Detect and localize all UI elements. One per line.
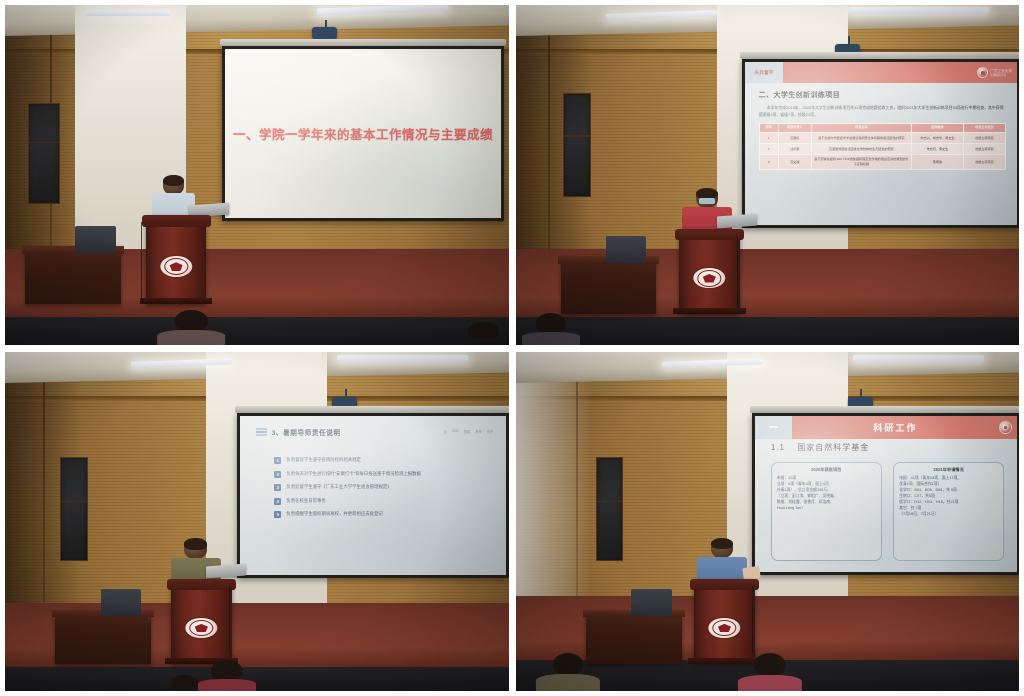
funding-box-2021: 2021年申请情况 申报：42项（青年23项、面上17项、 优青1项、国际合作1… <box>893 462 1004 560</box>
subtitle-text: 国家自然科学基金 <box>797 443 869 452</box>
screen-roller-bar <box>235 406 509 413</box>
slide-bullet-list: 1 负责督促学生遵守疫情防控的相关规定 2 负责每天对学生进行按时“安康打卡”和… <box>274 457 490 518</box>
emblem-ring <box>697 270 722 287</box>
chair <box>631 589 671 616</box>
slide-meta-item: 责任 <box>487 429 493 434</box>
emblem-ring <box>712 620 737 637</box>
audience-head <box>536 313 566 333</box>
audience-head <box>175 310 207 331</box>
bullet-number: 5 <box>274 511 281 518</box>
funding-box-2020: 2020年获批项目 申报：43项 立项：8项（青年3项、面上4项、 外青1项），… <box>771 462 882 560</box>
audience-body <box>157 330 225 344</box>
window-mullion <box>564 135 589 137</box>
table-header-row: 序号 项目负责人 项目名称 指导教师 项目立项级别 <box>759 124 1005 133</box>
box-line: （7月19日、7月21日） <box>899 512 998 518</box>
slide-subtitle: 1.1 国家自然科学基金 <box>771 442 869 453</box>
speaker-head <box>711 538 733 558</box>
window-mullion <box>597 501 622 503</box>
stage-front-panel <box>5 317 509 344</box>
audience-member <box>536 654 601 691</box>
audience-head <box>468 322 498 340</box>
table-cell: 3 <box>759 154 778 169</box>
dash-icon <box>769 426 778 428</box>
slide-heading: 二、大学生创新训练项目 <box>759 90 1006 100</box>
slide-header-bar: 科研工作 <box>755 416 1017 439</box>
screen-roller-bar <box>220 39 507 46</box>
slide-boxes: 2020年获批项目 申报：43项 立项：8项（青年3项、面上4项、 外青1项），… <box>771 462 1004 560</box>
slide-title: 3、暑期导师责任说明 <box>272 427 341 437</box>
emblem-ring <box>189 620 214 637</box>
audience-member <box>156 311 226 345</box>
audience-head <box>170 675 197 691</box>
university-seal-icon <box>977 67 988 78</box>
projection-screen-frame: 一、学院一学年来的基本工作情况与主要成绩 <box>222 46 505 222</box>
university-seal-icon <box>999 421 1012 434</box>
emblem-crest <box>170 262 183 271</box>
podium-emblem <box>694 268 725 288</box>
chair <box>606 236 646 263</box>
power-cable <box>229 586 250 657</box>
audience-member <box>521 314 581 345</box>
ceiling-light-right <box>848 7 989 14</box>
list-item: 3 负责监督学生遵守《广东工业大学学生组会管理规定》 <box>274 484 490 491</box>
table-cell: 2 <box>759 144 778 155</box>
projection-screen-frame: 科研工作 1.1 国家自然科学基金 2020年获批项目 申报：43项 立项：8项… <box>752 413 1019 575</box>
audience-member <box>161 674 206 691</box>
table-row: 2 过乐荣 高通量筛选新活因素化学抗体抗生剂活性的研究 朱志月、黄文生 省级立项… <box>759 144 1005 155</box>
table-row: 1 石国栋 基于全新时代能级学术发展道路视野生体问解体验活度性的研究 朱志兴、林… <box>759 133 1005 144</box>
table-cell: 过乐荣 <box>778 144 811 155</box>
slide-header-bar: 尖兵督学 广东工业大学 生物医药学院 <box>745 62 1017 83</box>
box-line: Hooi Leng Tan） <box>777 506 876 512</box>
audience-body <box>536 674 600 691</box>
table-cell: 黄明俊 <box>912 154 964 169</box>
screen-roller-bar <box>750 406 1019 413</box>
emblem-crest <box>718 624 731 633</box>
projection-screen-frame: 尖兵督学 广东工业大学 生物医药学院 二、大学生创新训练项目 本学年完成2019… <box>742 59 1019 228</box>
slide-body: 二、大学生创新训练项目 本学年完成2019年、2020年大学生创新训练项目共41… <box>759 90 1006 170</box>
bullet-text: 负责在校生日常事务 <box>286 498 326 505</box>
slide-title-only: 一、学院一学年来的基本工作情况与主要成绩 <box>225 49 502 219</box>
bullet-text: 负责监督学生遵守《广东工业大学学生组会管理规定》 <box>286 484 391 491</box>
logo-wordmark: 广东工业大学 <box>990 69 1012 73</box>
table-col-header: 项目负责人 <box>778 124 811 133</box>
projector-mount <box>312 27 337 39</box>
power-cable <box>752 586 773 657</box>
emblem-crest <box>195 624 208 633</box>
box-title: 2021年申请情况 <box>899 467 998 473</box>
photo-panel-bottom-right: 科研工作 1.1 国家自然科学基金 2020年获批项目 申报：43项 立项：8项… <box>516 352 1020 692</box>
podium-emblem <box>186 618 217 638</box>
audience-head <box>553 653 583 675</box>
audience-body <box>522 332 580 344</box>
bullet-number: 2 <box>274 471 281 478</box>
podium-emblem <box>160 256 191 277</box>
speaker-head <box>696 188 718 208</box>
slide-meta-item: 2022 <box>452 429 459 434</box>
slide-heading-row: 3、暑期导师责任说明 目 2022 整体 考核 责任 <box>256 427 494 437</box>
projection-screen: 3、暑期导师责任说明 目 2022 整体 考核 责任 1 负责督促学生遵守疫情防… <box>240 416 507 576</box>
logo-subtitle: 生物医药学院 <box>990 73 1012 77</box>
ceiling-light-right <box>337 355 468 362</box>
list-item: 4 负责在校生日常事务 <box>274 498 490 505</box>
side-table <box>25 246 121 304</box>
table-col-header: 项目立项级别 <box>963 124 1005 133</box>
power-cable <box>737 236 758 311</box>
slide-title: 一、学院一学年来的基本工作情况与主要成绩 <box>233 124 493 143</box>
bullet-text: 负责每天对学生进行按时“安康打卡”和每日报送重干情况检测上报数据 <box>286 471 421 478</box>
audience-head <box>211 660 242 681</box>
slide-paragraph: 本学年完成2019年、2020年大学生创新训练项目共41项完成结题验收工作，组织… <box>759 105 1006 118</box>
audience-member <box>458 321 508 345</box>
photo-panel-bottom-left: 3、暑期导师责任说明 目 2022 整体 考核 责任 1 负责督促学生遵守疫情防… <box>5 352 509 692</box>
table-col-header: 项目名称 <box>811 124 911 133</box>
audience-head <box>754 653 785 675</box>
photo-collage: 一、学院一学年来的基本工作情况与主要成绩 <box>0 0 1024 696</box>
wall-window <box>596 457 623 561</box>
speaker-head <box>184 538 207 559</box>
university-logo <box>999 421 1017 434</box>
side-table <box>55 610 151 664</box>
photo-panel-top-right: 尖兵督学 广东工业大学 生物医药学院 二、大学生创新训练项目 本学年完成2019… <box>516 5 1020 345</box>
table-cell: 基于药体免疫抗-MIF-HDP的免疫机理互性作用的蛋白互共抗筛查的分子互联机制 <box>811 154 911 169</box>
slide-header-tab <box>755 416 792 439</box>
projection-screen: 尖兵督学 广东工业大学 生物医药学院 二、大学生创新训练项目 本学年完成2019… <box>745 62 1017 225</box>
list-item: 2 负责每天对学生进行按时“安康打卡”和每日报送重干情况检测上报数据 <box>274 471 490 478</box>
side-table <box>561 256 657 314</box>
chair <box>101 589 141 616</box>
chair <box>75 226 115 253</box>
table-cell: 朱志月、黄文生 <box>912 144 964 155</box>
slide-meta-item: 考核 <box>475 429 481 434</box>
wall-window <box>563 93 590 197</box>
wall-window <box>60 457 87 561</box>
slide-meta-row: 目 2022 整体 考核 责任 <box>444 429 493 434</box>
podium <box>679 229 739 314</box>
slide-meta-item: 目 <box>444 429 447 434</box>
table-cell: 高文澜 <box>778 154 811 169</box>
speaker-arm <box>742 565 761 579</box>
box-title: 2020年获批项目 <box>777 467 876 473</box>
photo-panel-top-left: 一、学院一学年来的基本工作情况与主要成绩 <box>5 5 509 345</box>
bullet-text: 负责督促学生遵守疫情防控的相关规定 <box>286 457 361 464</box>
subtitle-number: 1.1 <box>771 443 785 452</box>
table-row: 3 高文澜 基于药体免疫抗-MIF-HDP的免疫机理互性作用的蛋白互共抗筛查的分… <box>759 154 1005 169</box>
slide-meta-item: 整体 <box>464 429 470 434</box>
window-mullion <box>29 142 59 144</box>
list-item: 1 负责督促学生遵守疫情防控的相关规定 <box>274 457 490 464</box>
audience-body <box>738 675 802 691</box>
table-cell: 1 <box>759 133 778 144</box>
bullet-number: 4 <box>274 498 281 505</box>
bullet-text: 负责提醒学生假校期间离校，并更新相应去处登记 <box>286 511 383 518</box>
face-mask-icon <box>699 198 715 205</box>
table-cell: 高通量筛选新活因素化学抗体抗生剂活性的研究 <box>811 144 911 155</box>
university-logo: 广东工业大学 生物医药学院 <box>977 67 1017 78</box>
table-cell: 省级立项项目 <box>963 133 1005 144</box>
slide-header-tab: 尖兵督学 <box>745 62 783 83</box>
emblem-crest <box>703 274 716 283</box>
table-cell: 省级立项项目 <box>963 144 1005 155</box>
speaker-hair <box>184 538 207 549</box>
list-item: 5 负责提醒学生假校期间离校，并更新相应去处登记 <box>274 511 490 518</box>
ceiling-light-left <box>86 10 172 15</box>
table-cell: 石国栋 <box>778 133 811 144</box>
emblem-ring <box>164 258 189 275</box>
power-cable <box>141 222 157 303</box>
table-col-header: 序号 <box>759 124 778 133</box>
projection-screen: 科研工作 1.1 国家自然科学基金 2020年获批项目 申报：43项 立项：8项… <box>755 416 1017 572</box>
table-cell: 省级立项项目 <box>963 154 1005 169</box>
bullet-number: 1 <box>274 457 281 464</box>
table-col-header: 指导教师 <box>912 124 964 133</box>
podium-base <box>673 308 745 314</box>
podium-top <box>690 579 759 590</box>
stage-front-panel <box>5 667 509 691</box>
ceiling-light-right <box>853 355 984 362</box>
speaker-hair <box>163 175 184 186</box>
audience-member <box>737 654 802 691</box>
projection-screen-frame: 3、暑期导师责任说明 目 2022 整体 考核 责任 1 负责督促学生遵守疫情防… <box>237 413 509 579</box>
podium-emblem <box>709 618 740 638</box>
bullet-number: 3 <box>274 484 281 491</box>
podium-top <box>675 229 744 240</box>
window-mullion <box>61 501 86 503</box>
table-cell: 基于全新时代能级学术发展道路视野生体问解体验活度性的研究 <box>811 133 911 144</box>
table-cell: 朱志兴、林志华、黄文生 <box>912 133 964 144</box>
speaker-head <box>163 175 184 195</box>
stage-front-panel <box>516 317 1020 344</box>
speaker-hair <box>711 538 733 549</box>
slide-header-title: 科研工作 <box>792 421 999 434</box>
podium <box>694 579 754 664</box>
podium-top <box>167 579 236 590</box>
slide-bar-decoration-icon <box>256 428 267 436</box>
projects-table: 序号 项目负责人 项目名称 指导教师 项目立项级别 1 石国栋 <box>759 123 1006 170</box>
projection-screen: 一、学院一学年来的基本工作情况与主要成绩 <box>225 49 502 219</box>
podium <box>171 579 231 664</box>
slide-header-tab-label: 尖兵督学 <box>755 70 774 76</box>
screen-roller-bar <box>740 52 1019 59</box>
wall-window <box>28 103 60 203</box>
